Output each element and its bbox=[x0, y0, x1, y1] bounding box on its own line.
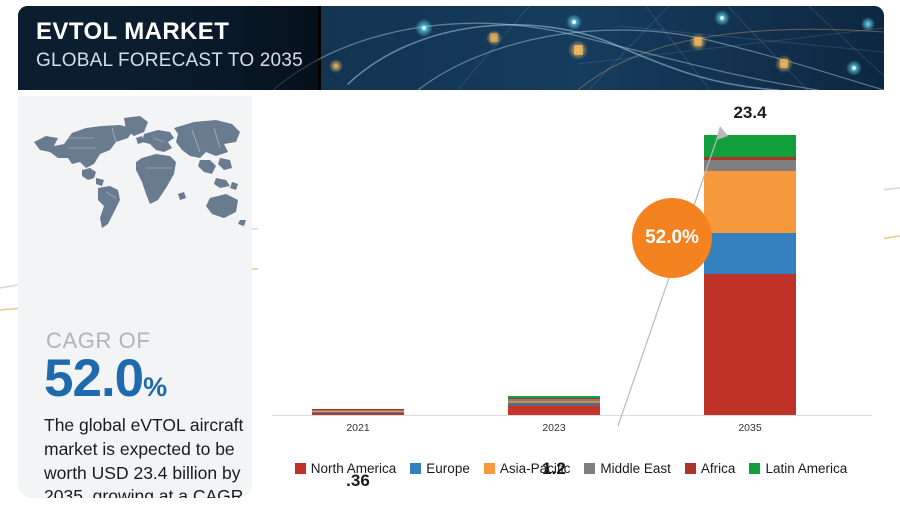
legend-swatch-asia-pacific bbox=[484, 463, 495, 474]
x-tick-2021: 2021 bbox=[312, 422, 404, 434]
segment-asia-pacific-2035 bbox=[704, 171, 796, 233]
left-summary-card: CAGR OF 52.0% The global eVTOL aircraft … bbox=[18, 96, 252, 498]
legend-item-europe[interactable]: Europe bbox=[410, 461, 470, 476]
legend-label-africa: Africa bbox=[701, 461, 736, 476]
cagr-percent-sign: % bbox=[143, 372, 167, 402]
segment-north-america-2023 bbox=[508, 406, 600, 415]
cagr-value: 52.0% bbox=[44, 352, 167, 405]
x-axis-baseline bbox=[272, 415, 872, 416]
legend-item-asia-pacific[interactable]: Asia-Pacific bbox=[484, 461, 571, 476]
legend-swatch-middle-east bbox=[584, 463, 595, 474]
cagr-number: 52.0 bbox=[44, 349, 143, 408]
legend-item-latin-america[interactable]: Latin America bbox=[749, 461, 847, 476]
infographic-root: EVTOL MARKET GLOBAL FORECAST TO 2035 bbox=[0, 0, 900, 513]
world-map-icon bbox=[24, 108, 250, 232]
legend-item-north-america[interactable]: North America bbox=[295, 461, 397, 476]
chart-legend: North America Europe Asia-Pacific Middle… bbox=[258, 461, 884, 476]
bar-2035[interactable] bbox=[704, 135, 796, 415]
legend-item-middle-east[interactable]: Middle East bbox=[584, 461, 671, 476]
segment-north-america-2021 bbox=[312, 413, 404, 415]
legend-label-latin-america: Latin America bbox=[765, 461, 847, 476]
legend-label-asia-pacific: Asia-Pacific bbox=[500, 461, 571, 476]
legend-label-middle-east: Middle East bbox=[600, 461, 671, 476]
legend-label-north-america: North America bbox=[311, 461, 397, 476]
bar-chart-plot: .36 2021 1.2 2023 23.4 bbox=[258, 96, 884, 498]
bar-value-label-2035: 23.4 bbox=[704, 103, 796, 123]
legend-swatch-latin-america bbox=[749, 463, 760, 474]
chart-card: .36 2021 1.2 2023 23.4 bbox=[258, 96, 884, 498]
bar-2023[interactable] bbox=[508, 396, 600, 415]
page-subtitle: GLOBAL FORECAST TO 2035 bbox=[36, 51, 303, 72]
page-title: EVTOL MARKET bbox=[36, 19, 303, 46]
summary-description: The global eVTOL aircraft market is expe… bbox=[44, 414, 244, 498]
x-tick-2023: 2023 bbox=[508, 422, 600, 434]
x-tick-2035: 2035 bbox=[704, 422, 796, 434]
segment-middle-east-2035 bbox=[704, 160, 796, 170]
cagr-callout-text: 52.0% bbox=[645, 227, 699, 249]
legend-item-africa[interactable]: Africa bbox=[685, 461, 736, 476]
legend-swatch-europe bbox=[410, 463, 421, 474]
segment-north-america-2035 bbox=[704, 274, 796, 415]
legend-label-europe: Europe bbox=[426, 461, 470, 476]
cagr-callout-badge[interactable]: 52.0% bbox=[632, 198, 712, 278]
bar-2021[interactable] bbox=[312, 409, 404, 415]
legend-swatch-north-america bbox=[295, 463, 306, 474]
segment-europe-2035 bbox=[704, 233, 796, 274]
header-banner: EVTOL MARKET GLOBAL FORECAST TO 2035 bbox=[18, 6, 884, 90]
segment-latin-america-2035 bbox=[704, 135, 796, 157]
legend-swatch-africa bbox=[685, 463, 696, 474]
header-text-block: EVTOL MARKET GLOBAL FORECAST TO 2035 bbox=[36, 19, 303, 72]
